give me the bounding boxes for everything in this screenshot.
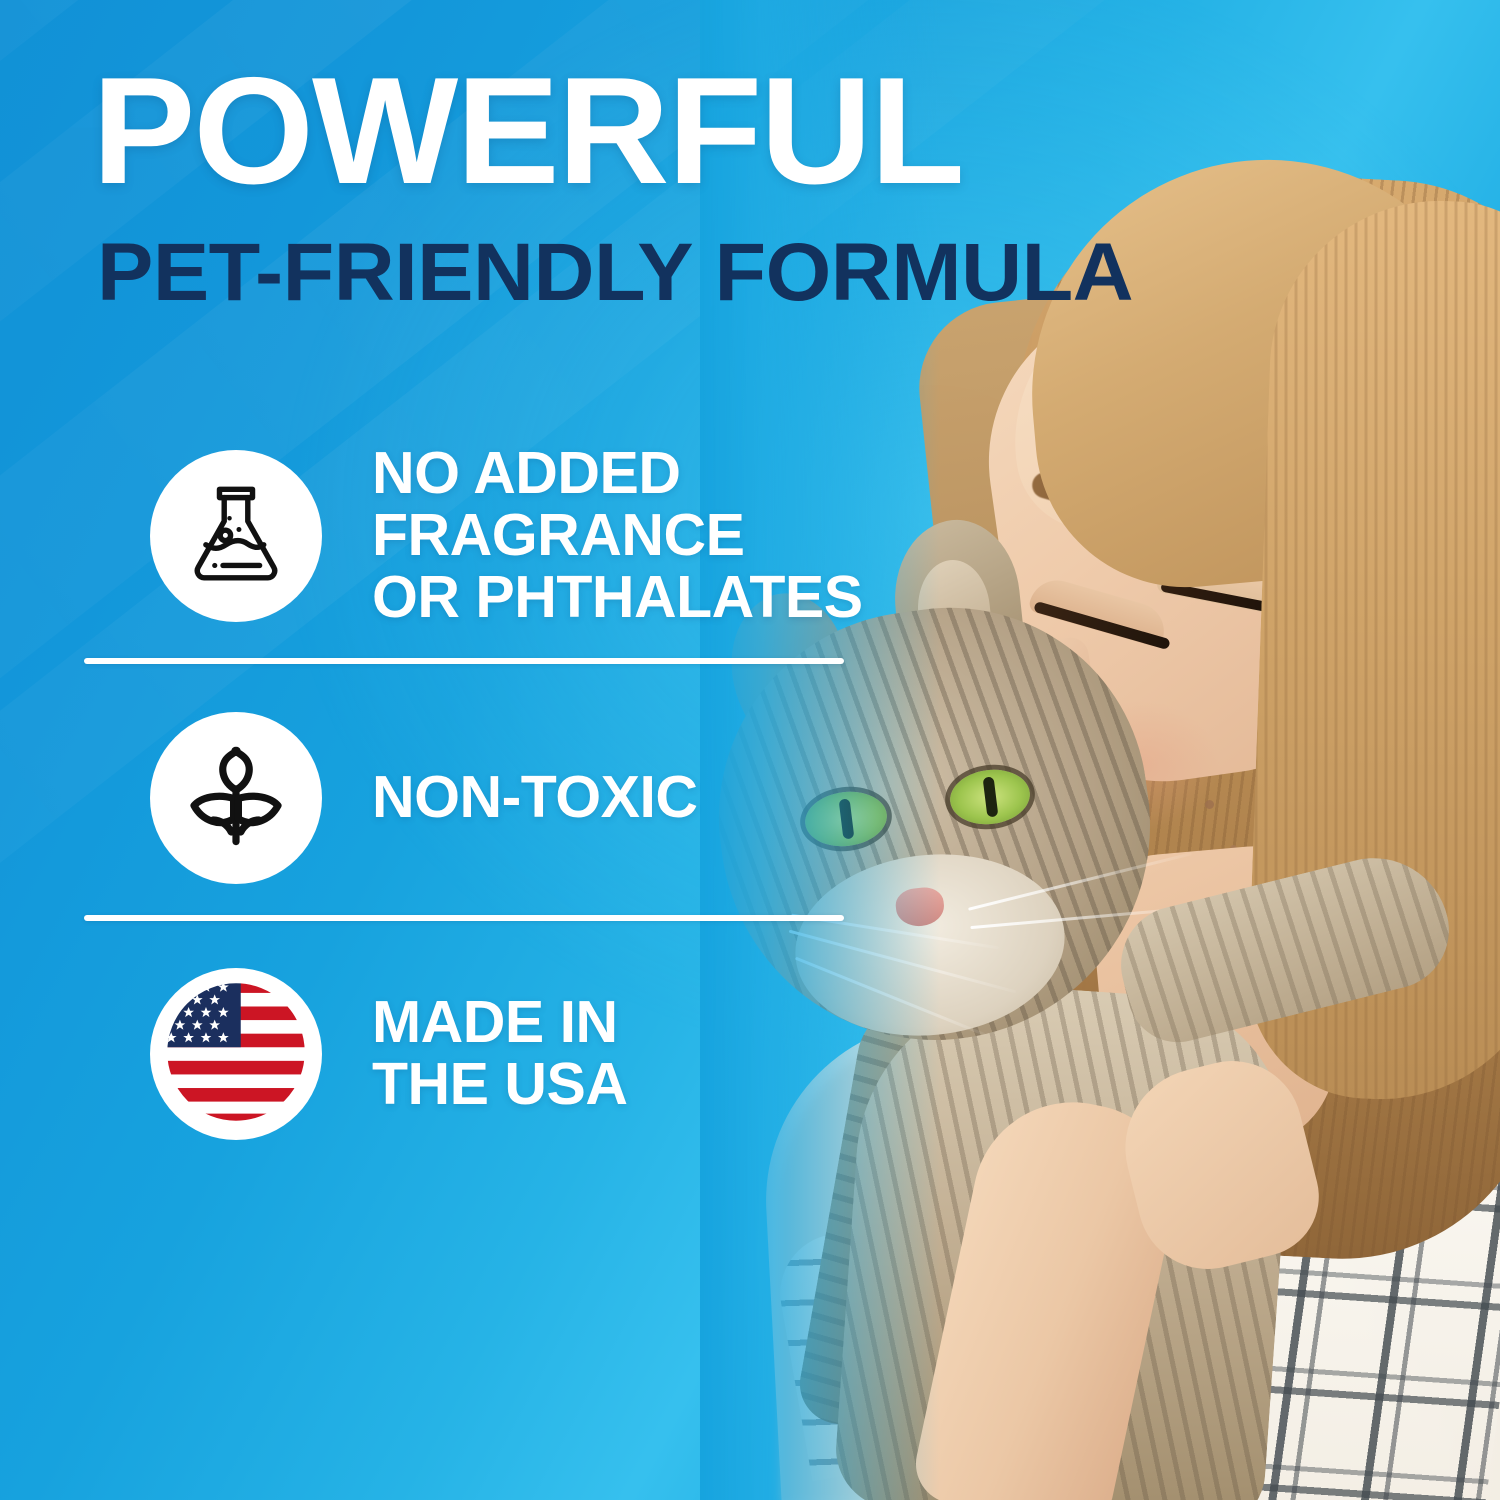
feature-row-non-toxic: NON-TOXIC [150,712,697,884]
feature-icon-badge [150,450,322,622]
page-subtitle: PET-FRIENDLY FORMULA [97,232,1133,314]
feature-divider-2 [84,915,844,921]
plant-leaf-icon [176,736,296,861]
feature-divider-1 [84,658,844,664]
feature-icon-badge [150,712,322,884]
usa-flag-icon [157,973,315,1136]
feature-icon-badge [150,968,322,1140]
flask-icon [177,474,295,597]
feature-label: NON-TOXIC [372,767,697,829]
page-title: POWERFUL [92,62,963,202]
feature-row-no-added-fragrance: NO ADDED FRAGRANCE OR PHTHALATES [150,443,863,629]
feature-label: NO ADDED FRAGRANCE OR PHTHALATES [372,443,863,629]
feature-label: MADE IN THE USA [372,992,627,1116]
feature-row-made-in-usa: MADE IN THE USA [150,968,627,1140]
